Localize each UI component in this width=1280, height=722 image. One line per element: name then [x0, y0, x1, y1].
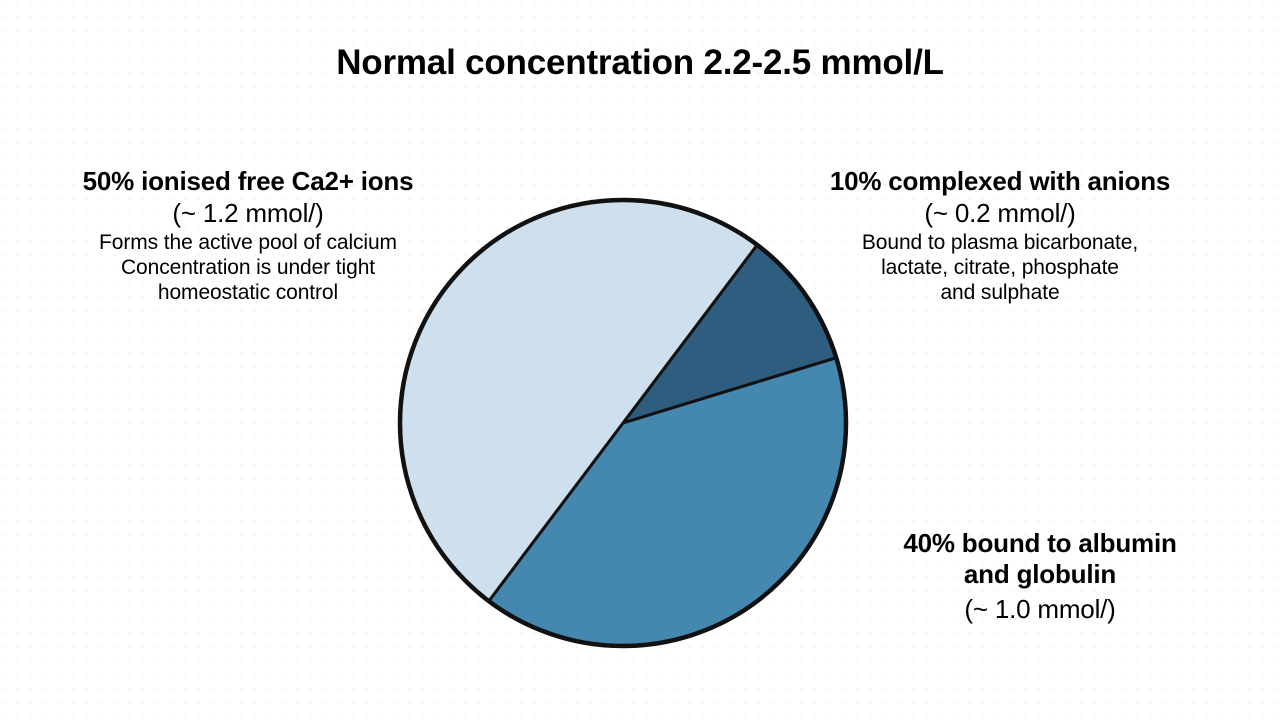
callout-ionised-detail-line-3: homeostatic control — [0, 280, 496, 305]
callout-ionised-headline: 50% ionised free Ca2+ ions — [0, 166, 496, 197]
callout-bound-headline-line-1: 40% bound to albumin — [824, 528, 1256, 559]
callout-bound-to-albumin: 40% bound to albumin and globulin (~ 1.0… — [824, 528, 1256, 628]
callout-bound-headline-line-2: and globulin — [824, 559, 1256, 590]
callout-ionised-detail-line-1: Forms the active pool of calcium — [0, 230, 496, 255]
callout-complexed-with-anions: 10% complexed with anions (~ 0.2 mmol/) … — [748, 166, 1252, 305]
callout-ionised-detail-line-2: Concentration is under tight — [0, 255, 496, 280]
callout-complexed-detail-line-2: lactate, citrate, phosphate — [748, 255, 1252, 280]
callout-complexed-detail-line-1: Bound to plasma bicarbonate, — [748, 230, 1252, 255]
callout-ionised-detail: Forms the active pool of calcium Concent… — [0, 230, 496, 305]
callout-bound-amount: (~ 1.0 mmol/) — [824, 590, 1256, 628]
slide-canvas: Normal concentration 2.2-2.5 mmol/L 50% … — [0, 0, 1280, 722]
callout-complexed-amount: (~ 0.2 mmol/) — [748, 197, 1252, 230]
callout-ionised-amount: (~ 1.2 mmol/) — [0, 197, 496, 230]
callout-complexed-detail: Bound to plasma bicarbonate, lactate, ci… — [748, 230, 1252, 305]
page-title: Normal concentration 2.2-2.5 mmol/L — [0, 42, 1280, 84]
callout-complexed-headline: 10% complexed with anions — [748, 166, 1252, 197]
callout-complexed-detail-line-3: and sulphate — [748, 280, 1252, 305]
callout-ionised-free-calcium: 50% ionised free Ca2+ ions (~ 1.2 mmol/)… — [0, 166, 496, 305]
